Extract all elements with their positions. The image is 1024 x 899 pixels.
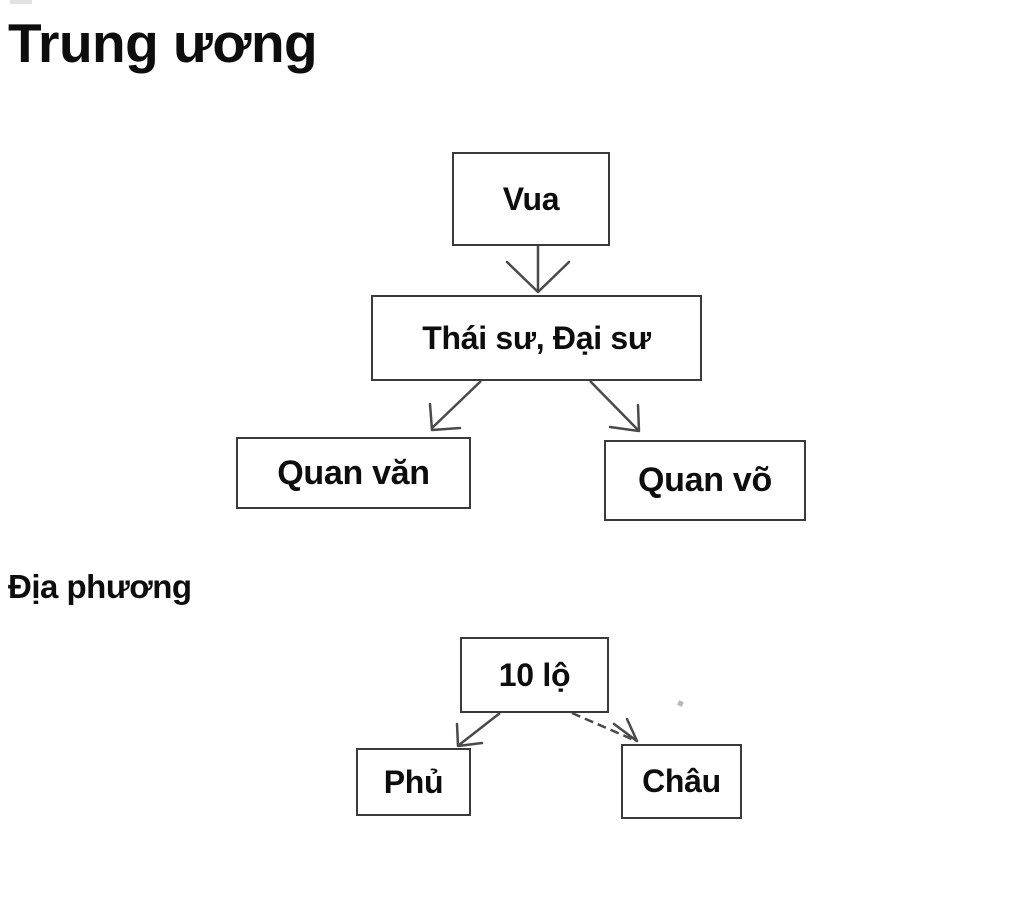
scan-artifact-stray-mark [677, 700, 684, 707]
node-thai-su-label: Thái sư, Đại sư [422, 320, 651, 357]
edge-10-lo-to-chau [572, 713, 637, 741]
node-thai-su[interactable]: Thái sư, Đại sư [371, 295, 702, 381]
node-phu[interactable]: Phủ [356, 748, 471, 816]
node-vua[interactable]: Vua [452, 152, 610, 246]
node-10-lo[interactable]: 10 lộ [460, 637, 609, 713]
section-title-central: Trung ương [8, 12, 317, 74]
section-title-local: Địa phương [8, 567, 192, 607]
edge-thai-su-to-quan-vo [590, 381, 639, 431]
node-quan-vo-label: Quan võ [638, 461, 772, 500]
node-10-lo-label: 10 lộ [499, 657, 570, 694]
node-chau[interactable]: Châu [621, 744, 742, 819]
node-quan-van-label: Quan văn [277, 454, 430, 493]
connector-layer [0, 0, 1024, 899]
edge-vua-to-thai-su [507, 246, 569, 292]
node-chau-label: Châu [642, 763, 721, 800]
node-quan-van[interactable]: Quan văn [236, 437, 471, 509]
edge-10-lo-to-phu [457, 713, 500, 746]
diagram-canvas: Trung ương Địa phương V [0, 0, 1024, 899]
scan-artifact-top-left [10, 0, 32, 4]
node-vua-label: Vua [503, 181, 560, 218]
edge-thai-su-to-quan-van [430, 381, 481, 430]
node-quan-vo[interactable]: Quan võ [604, 440, 806, 521]
node-phu-label: Phủ [384, 764, 444, 801]
